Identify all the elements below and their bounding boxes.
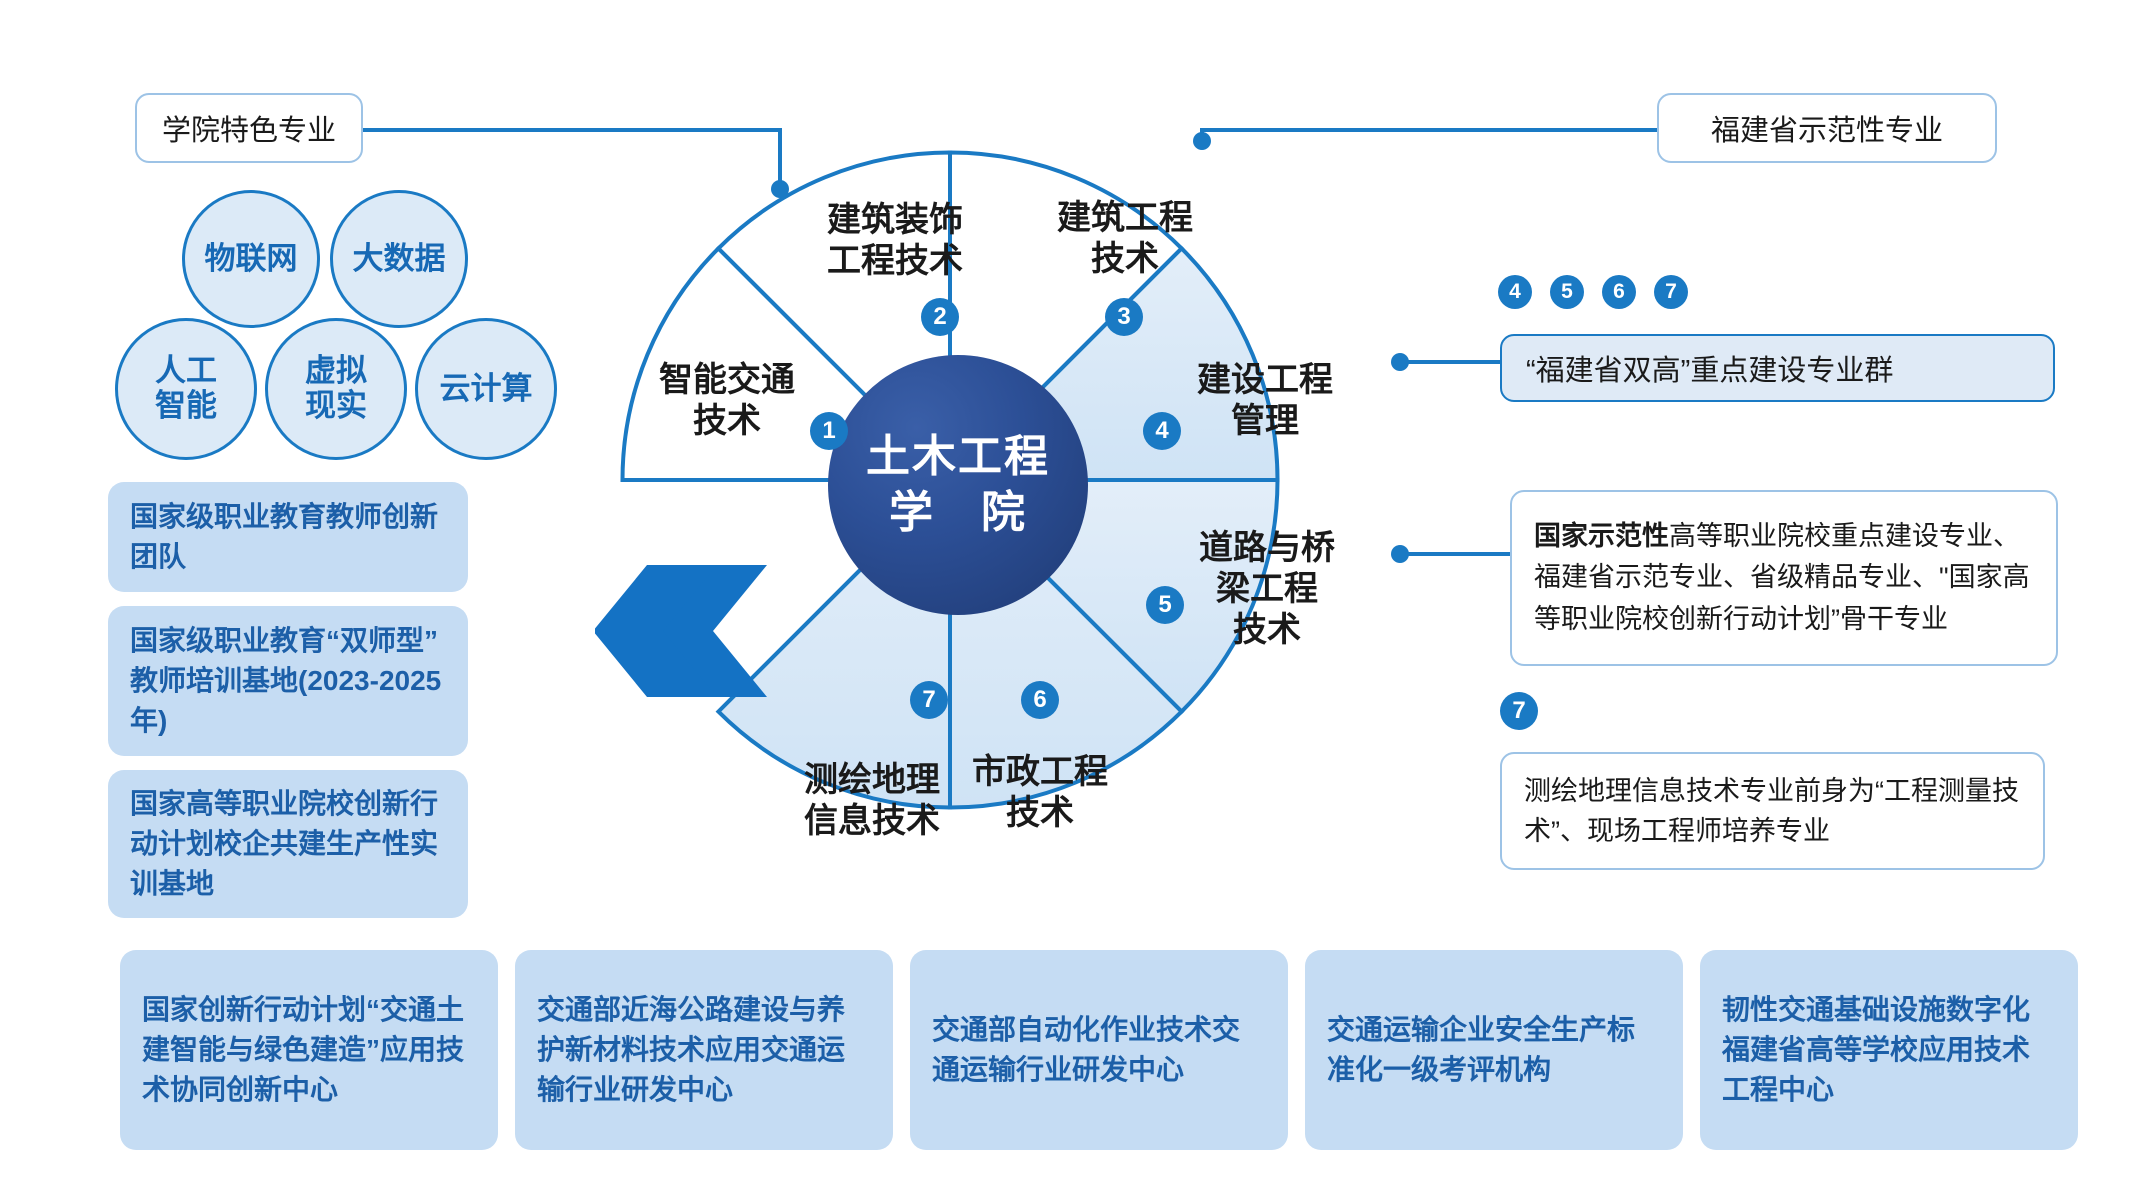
callout-shuanggao[interactable]: “福建省双高”重点建设专业群 bbox=[1500, 334, 2055, 402]
wheel-badge-5: 5 bbox=[1146, 586, 1184, 624]
connector-national-demo bbox=[1400, 552, 1510, 556]
callout-top-left[interactable]: 学院特色专业 bbox=[135, 93, 363, 163]
bottom-panel-4-text: 交通运输企业安全生产标准化一级考评机构 bbox=[1305, 1010, 1683, 1090]
connector-dot-top-left bbox=[771, 180, 789, 198]
callout-surveying-text: 测绘地理信息技术专业前身为“工程测量技术”、现场工程师培养专业 bbox=[1524, 771, 2021, 852]
shuanggao-badge-row: 4 5 6 7 bbox=[1498, 275, 1688, 309]
tech-bubble-ai[interactable]: 人工 智能 bbox=[115, 318, 257, 460]
wheel-badge-7: 7 bbox=[910, 681, 948, 719]
left-panel-2[interactable]: 国家级职业教育“双师型” 教师培训基地(2023-2025年) bbox=[108, 606, 468, 756]
left-panel-3-text: 国家高等职业院校创新行动计划校企共建生产性实训基地 bbox=[108, 784, 468, 903]
callout-top-right[interactable]: 福建省示范性专业 bbox=[1657, 93, 1997, 163]
bottom-panel-5-text: 韧性交通基础设施数字化福建省高等学校应用技术工程中心 bbox=[1700, 990, 2078, 1109]
connector-dot-shuanggao bbox=[1391, 353, 1409, 371]
tech-bubble-vr[interactable]: 虚拟 现实 bbox=[265, 318, 407, 460]
wheel-segment-7-label: 测绘地理 信息技术 bbox=[772, 760, 972, 842]
callout-surveying[interactable]: 测绘地理信息技术专业前身为“工程测量技术”、现场工程师培养专业 bbox=[1500, 752, 2045, 870]
left-panel-2-text: 国家级职业教育“双师型” 教师培训基地(2023-2025年) bbox=[108, 621, 468, 740]
wheel-badge-6: 6 bbox=[1021, 681, 1059, 719]
shuanggao-badge-7: 7 bbox=[1654, 275, 1688, 309]
bottom-panel-5[interactable]: 韧性交通基础设施数字化福建省高等学校应用技术工程中心 bbox=[1700, 950, 2078, 1150]
bottom-panel-2[interactable]: 交通部近海公路建设与养护新材料技术应用交通运输行业研发中心 bbox=[515, 950, 893, 1150]
surveying-badge-7: 7 bbox=[1500, 692, 1538, 730]
wheel-badge-4: 4 bbox=[1143, 412, 1181, 450]
shuanggao-badge-4: 4 bbox=[1498, 275, 1532, 309]
wheel-badge-3: 3 bbox=[1105, 298, 1143, 336]
wheel-badge-1: 1 bbox=[810, 412, 848, 450]
hub-line2: 学 院 bbox=[889, 485, 1027, 541]
bottom-panel-4[interactable]: 交通运输企业安全生产标准化一级考评机构 bbox=[1305, 950, 1683, 1150]
connector-top-right-h bbox=[1200, 128, 1660, 132]
connector-dot-top-right bbox=[1193, 132, 1211, 150]
double-chevron-left-icon bbox=[595, 565, 795, 700]
tech-bubble-iot[interactable]: 物联网 bbox=[182, 190, 320, 328]
left-panel-3[interactable]: 国家高等职业院校创新行动计划校企共建生产性实训基地 bbox=[108, 770, 468, 918]
wheel-segment-5-label: 道路与桥 梁工程 技术 bbox=[1167, 528, 1367, 650]
bottom-panel-1[interactable]: 国家创新行动计划“交通土建智能与绿色建造”应用技术协同创新中心 bbox=[120, 950, 498, 1150]
wheel-segment-2-label: 建筑装饰 工程技术 bbox=[790, 200, 1000, 282]
shuanggao-badge-6: 6 bbox=[1602, 275, 1636, 309]
connector-top-left-h bbox=[362, 128, 782, 132]
connector-dot-national-demo bbox=[1391, 545, 1409, 563]
connector-shuanggao bbox=[1400, 360, 1500, 364]
tech-bubble-bigdata[interactable]: 大数据 bbox=[330, 190, 468, 328]
wheel-segment-3-label: 建筑工程 技术 bbox=[1020, 198, 1230, 280]
wheel-segment-4-label: 建设工程 管理 bbox=[1165, 360, 1365, 442]
callout-national-demo[interactable]: 国家示范性高等职业院校重点建设专业、福建省示范专业、省级精品专业、"国家高等职业… bbox=[1510, 490, 2058, 666]
shuanggao-badge-5: 5 bbox=[1550, 275, 1584, 309]
hub-circle: 土木工程 学 院 bbox=[828, 355, 1088, 615]
bottom-panel-2-text: 交通部近海公路建设与养护新材料技术应用交通运输行业研发中心 bbox=[515, 990, 893, 1109]
national-demo-bold-prefix: 国家示范性 bbox=[1534, 521, 1669, 551]
tech-bubble-cloud[interactable]: 云计算 bbox=[415, 318, 557, 460]
wheel-badge-2: 2 bbox=[921, 298, 959, 336]
bottom-panel-3-text: 交通部自动化作业技术交通运输行业研发中心 bbox=[910, 1010, 1288, 1090]
left-panel-1[interactable]: 国家级职业教育教师创新团队 bbox=[108, 482, 468, 592]
hub-line1: 土木工程 bbox=[866, 429, 1050, 485]
left-panel-1-text: 国家级职业教育教师创新团队 bbox=[108, 497, 468, 577]
connector-top-left-v bbox=[778, 128, 782, 188]
bottom-panel-3[interactable]: 交通部自动化作业技术交通运输行业研发中心 bbox=[910, 950, 1288, 1150]
wheel-segment-1-label: 智能交通 技术 bbox=[632, 360, 822, 442]
bottom-panel-1-text: 国家创新行动计划“交通土建智能与绿色建造”应用技术协同创新中心 bbox=[120, 990, 498, 1109]
